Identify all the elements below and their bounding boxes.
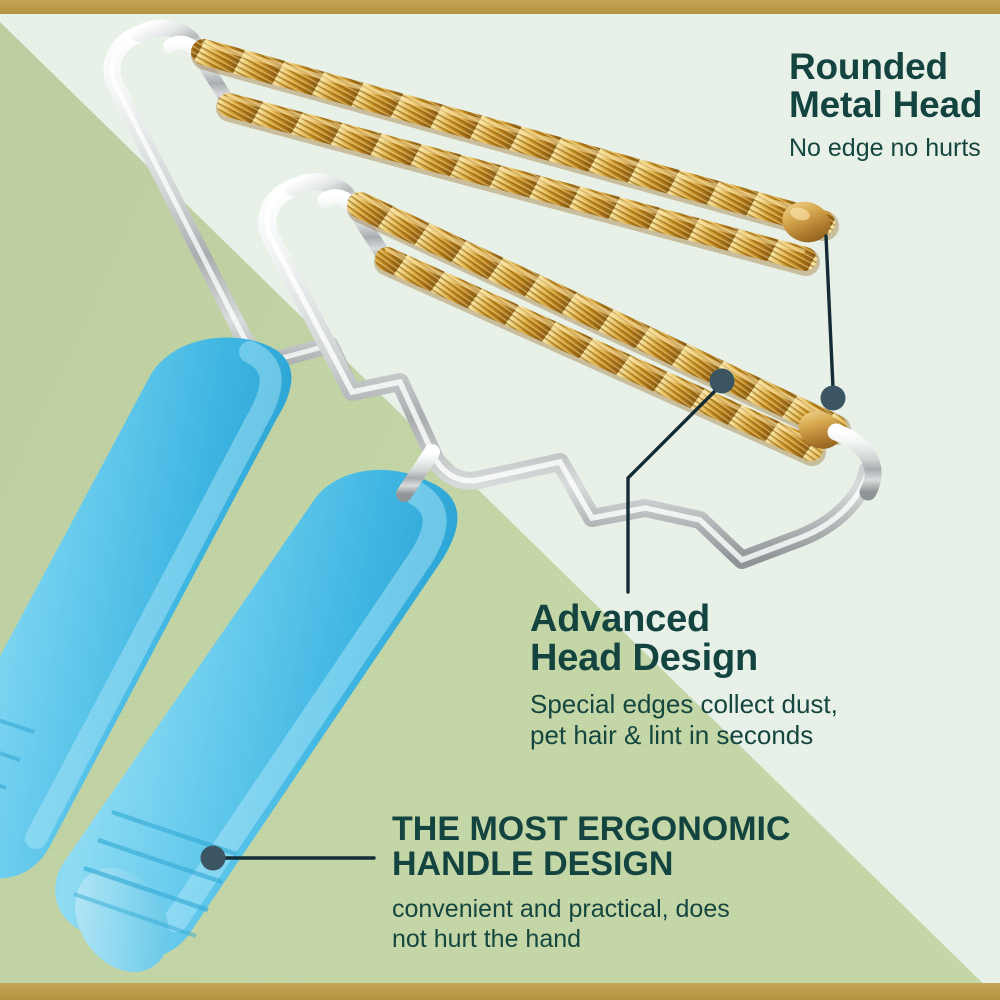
callout-title-rounded-metal-head: Rounded Metal Head bbox=[789, 48, 1000, 124]
callout-title-ergonomic-handle: THE MOST ERGONOMIC HANDLE DESIGN bbox=[392, 812, 832, 882]
callout-subtitle-advanced-head-design: Special edges collect dust, pet hair & l… bbox=[530, 689, 860, 751]
callout-ergonomic-handle: THE MOST ERGONOMIC HANDLE DESIGN conveni… bbox=[392, 812, 832, 954]
callout-subtitle-ergonomic-handle: convenient and practical, does not hurt … bbox=[392, 894, 832, 954]
callout-title-advanced-head-design: Advanced Head Design bbox=[530, 600, 860, 678]
frame-band-bottom bbox=[0, 983, 1000, 1000]
callout-advanced-head-design: Advanced Head Design Special edges colle… bbox=[530, 600, 860, 752]
callout-rounded-metal-head: Rounded Metal Head No edge no hurts bbox=[789, 48, 1000, 163]
callout-subtitle-rounded-metal-head: No edge no hurts bbox=[789, 133, 1000, 163]
infographic-canvas: Rounded Metal Head No edge no hurts Adva… bbox=[0, 0, 1000, 1000]
frame-band-top bbox=[0, 0, 1000, 14]
